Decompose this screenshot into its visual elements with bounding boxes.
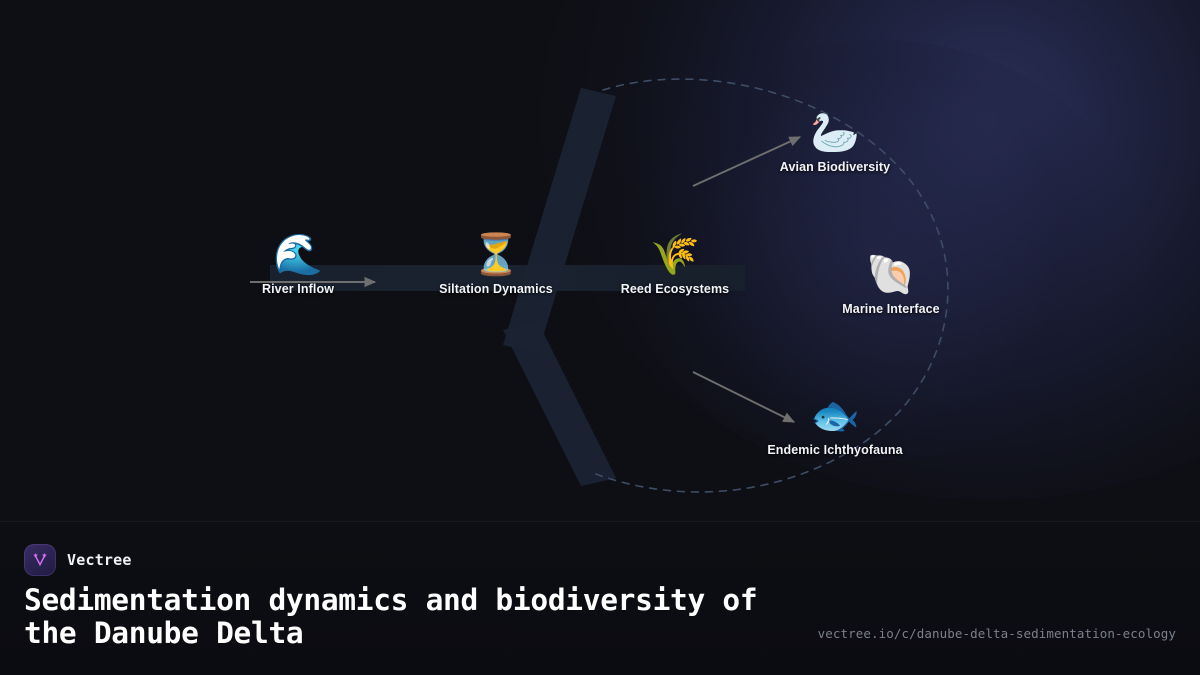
diagram-page: 🌊 River Inflow ⏳ Siltation Dynamics 🌾 Re… <box>0 0 1200 675</box>
shell-icon: 🐚 <box>811 252 971 298</box>
node-label-avian-biodiversity: Avian Biodiversity <box>755 160 915 174</box>
node-label-reed-ecosystems: Reed Ecosystems <box>595 282 755 296</box>
hourglass-icon: ⏳ <box>416 232 576 278</box>
node-label-endemic-ichthyofauna: Endemic Ichthyofauna <box>755 443 915 457</box>
node-label-marine-interface: Marine Interface <box>811 302 971 316</box>
node-endemic-ichthyofauna[interactable]: 🐟 Endemic Ichthyofauna <box>755 393 915 457</box>
node-label-river-inflow: River Inflow <box>218 282 378 296</box>
node-siltation-dynamics[interactable]: ⏳ Siltation Dynamics <box>416 232 576 296</box>
node-label-siltation-dynamics: Siltation Dynamics <box>416 282 576 296</box>
vectree-logo-icon <box>24 544 56 576</box>
footer: Vectree Sedimentation dynamics and biodi… <box>0 522 1200 675</box>
node-avian-biodiversity[interactable]: 🦢 Avian Biodiversity <box>755 110 915 174</box>
swan-icon: 🦢 <box>755 110 915 156</box>
brand-name: Vectree <box>67 551 132 569</box>
brand[interactable]: Vectree <box>24 544 132 576</box>
node-reed-ecosystems[interactable]: 🌾 Reed Ecosystems <box>595 232 755 296</box>
reed-icon: 🌾 <box>595 232 755 278</box>
page-title: Sedimentation dynamics and biodiversity … <box>24 584 784 650</box>
fish-icon: 🐟 <box>755 393 915 439</box>
wave-icon: 🌊 <box>218 232 378 278</box>
node-river-inflow[interactable]: 🌊 River Inflow <box>218 232 378 296</box>
footer-url: vectree.io/c/danube-delta-sedimentation-… <box>818 626 1176 641</box>
node-marine-interface[interactable]: 🐚 Marine Interface <box>811 252 971 316</box>
